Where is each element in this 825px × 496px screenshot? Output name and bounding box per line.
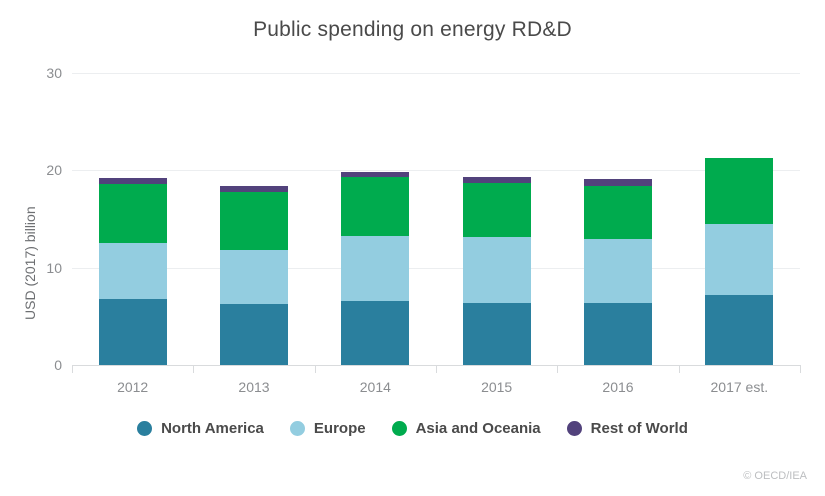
chart-legend: North AmericaEuropeAsia and OceaniaRest … [0,420,825,437]
y-tick-label-10: 10 [22,260,62,276]
bar-segment-europe[interactable] [463,237,531,303]
legend-label-rest-of-world: Rest of World [591,420,688,437]
x-tick-mark [800,365,801,373]
y-tick-label-30: 30 [22,65,62,81]
x-tick-label-2016: 2016 [558,379,678,395]
bar-segment-rest-of-world[interactable] [584,179,652,186]
bar-segment-north-america[interactable] [584,303,652,365]
y-tick-label-20: 20 [22,162,62,178]
legend-label-europe: Europe [314,420,366,437]
chart-title: Public spending on energy RD&D [0,18,825,42]
x-tick-label-2015: 2015 [437,379,557,395]
bar-segment-europe[interactable] [705,224,773,295]
x-tick-mark [72,365,73,373]
bar-segment-europe[interactable] [99,243,167,298]
bar-segment-asia-and-oceania[interactable] [584,186,652,240]
bar-segment-north-america[interactable] [705,295,773,365]
stacked-bar[interactable] [220,186,288,365]
bar-segment-north-america[interactable] [341,301,409,365]
stacked-bar[interactable] [584,179,652,365]
x-tick-mark [679,365,680,373]
bar-segment-asia-and-oceania[interactable] [99,184,167,243]
stacked-bar[interactable] [705,158,773,365]
bar-group-2013 [193,73,314,365]
bar-group-2016 [557,73,678,365]
bar-segment-europe[interactable] [341,236,409,301]
bar-segment-asia-and-oceania[interactable] [341,177,409,235]
x-tick-mark [193,365,194,373]
bar-group-2017-est- [679,73,800,365]
stacked-bar[interactable] [463,177,531,365]
legend-label-asia-and-oceania: Asia and Oceania [416,420,541,437]
legend-item-asia-and-oceania[interactable]: Asia and Oceania [392,420,541,437]
stacked-bar[interactable] [341,172,409,365]
legend-item-europe[interactable]: Europe [290,420,366,437]
bar-segment-europe[interactable] [220,250,288,304]
bar-segment-asia-and-oceania[interactable] [705,158,773,224]
x-tick-mark [315,365,316,373]
x-tick-mark [557,365,558,373]
stacked-bar[interactable] [99,178,167,365]
x-tick-label-2017-est-: 2017 est. [679,379,799,395]
x-tick-mark [436,365,437,373]
bar-segment-asia-and-oceania[interactable] [220,192,288,250]
bar-segment-asia-and-oceania[interactable] [463,183,531,237]
bar-group-2014 [315,73,436,365]
bar-segment-north-america[interactable] [463,303,531,365]
bar-segment-north-america[interactable] [99,299,167,365]
bar-group-2012 [72,73,193,365]
source-credit: © OECD/IEA [743,470,807,482]
bar-segment-north-america[interactable] [220,304,288,365]
legend-swatch-north-america [137,421,152,436]
legend-item-north-america[interactable]: North America [137,420,264,437]
bar-segment-europe[interactable] [584,239,652,302]
x-tick-label-2012: 2012 [73,379,193,395]
bar-series-group [72,73,800,365]
legend-label-north-america: North America [161,420,264,437]
x-tick-label-2014: 2014 [315,379,435,395]
y-tick-label-0: 0 [22,357,62,373]
legend-swatch-rest-of-world [567,421,582,436]
legend-swatch-asia-and-oceania [392,421,407,436]
bar-group-2015 [436,73,557,365]
legend-item-rest-of-world[interactable]: Rest of World [567,420,688,437]
legend-swatch-europe [290,421,305,436]
x-tick-label-2013: 2013 [194,379,314,395]
